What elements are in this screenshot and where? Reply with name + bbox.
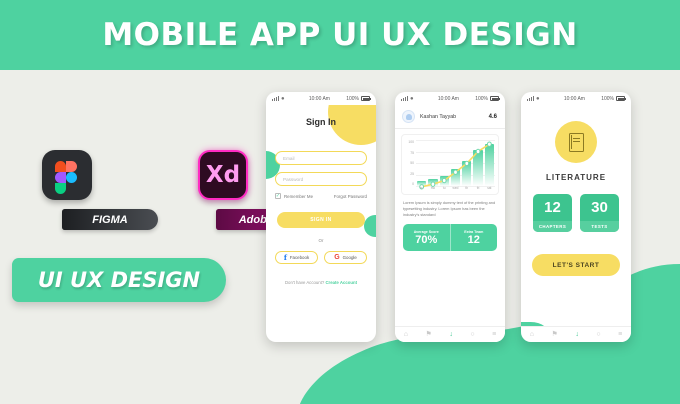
status-bar: ● 10:00 Am 100%	[395, 92, 505, 105]
page-header-banner: MOBILE APP UI UX DESIGN	[0, 0, 680, 70]
score-summary-card: Average Score70%Extra Team12	[403, 224, 497, 251]
signin-screen: Sign In Email Password ✓ Remember Me For…	[266, 105, 376, 342]
graduation-cap-icon[interactable]: ⌂	[530, 331, 534, 338]
no-account-text: Don't have Account?	[285, 280, 324, 285]
signal-icon	[527, 96, 534, 101]
stat-value: 30	[580, 194, 619, 221]
status-bar-right: 100%	[601, 96, 625, 102]
signin-heading: Sign In	[266, 117, 376, 127]
chart-x-tick: tu	[440, 186, 449, 192]
score-value: 70%	[415, 235, 437, 246]
email-field[interactable]: Email	[275, 151, 367, 165]
subject-stats-row: 12CHAPTERS30TESTS	[533, 194, 619, 232]
phone-mockup-literature: ● 10:00 Am 100% LITERATURE 12CHAPTERS30T…	[521, 92, 631, 342]
lets-start-button[interactable]: LET'S START	[532, 254, 620, 276]
profile-header[interactable]: Kashan Tayyab 4.6	[395, 105, 505, 129]
score-value: 12	[468, 235, 480, 246]
subject-icon-circle	[555, 121, 597, 163]
chart-data-point	[442, 178, 446, 182]
decoration-circle-green-right	[364, 215, 376, 237]
chart-x-tick: sat	[485, 186, 494, 192]
chart-x-tick: wed	[451, 186, 460, 192]
facebook-login-button[interactable]: f Facebook	[275, 251, 318, 264]
battery-percent: 100%	[346, 96, 359, 102]
password-field[interactable]: Password	[275, 172, 367, 186]
figma-shape-red	[55, 161, 66, 172]
bell-icon[interactable]: ⚑	[552, 331, 558, 338]
score-cell: Extra Team12	[450, 224, 498, 251]
avatar-person-icon	[406, 114, 412, 120]
status-bar-left: ●	[401, 96, 414, 102]
menu-icon[interactable]: ≡	[618, 331, 622, 338]
email-placeholder: Email	[283, 156, 295, 161]
chart-x-tick: th	[462, 186, 471, 192]
battery-icon	[616, 96, 625, 101]
forgot-password-link[interactable]: Forgot Password	[334, 194, 367, 199]
menu-icon[interactable]: ≡	[492, 331, 496, 338]
phone-mockup-dashboard: ● 10:00 Am 100% Kashan Tayyab 4.6 100755…	[395, 92, 505, 342]
google-icon: G	[334, 254, 339, 261]
status-bar-time: 10:00 Am	[540, 96, 602, 102]
dashboard-screen: Kashan Tayyab 4.6 1007550250 sumotuwedth…	[395, 105, 505, 342]
bottom-navigation[interactable]: ⌂⚑↓○≡	[521, 326, 631, 342]
rating-value: 4.6	[489, 114, 497, 120]
chart-y-tick: 0	[412, 182, 414, 186]
gear-icon[interactable]: ○	[596, 331, 600, 338]
battery-percent: 100%	[475, 96, 488, 102]
status-bar: ● 10:00 Am 100%	[266, 92, 376, 105]
score-cell: Average Score70%	[403, 224, 450, 251]
gear-icon[interactable]: ○	[470, 331, 474, 338]
chart-data-point	[465, 161, 469, 165]
facebook-icon: f	[284, 254, 287, 261]
tools-showcase: FIGMA Xd Adobe XD UI UX DESIGN	[0, 150, 250, 302]
battery-percent: 100%	[601, 96, 614, 102]
create-account-link[interactable]: Create Account	[325, 280, 357, 285]
status-bar-time: 10:00 Am	[414, 96, 476, 102]
avatar	[402, 110, 415, 123]
chart-data-point	[454, 170, 458, 174]
adobe-xd-icon: Xd	[198, 150, 248, 200]
stat-label: TESTS	[580, 221, 619, 232]
chart-trend-line	[416, 140, 495, 192]
person-icon[interactable]: ↓	[449, 331, 453, 338]
adobe-xd-glyph: Xd	[206, 162, 240, 188]
create-account-row: Don't have Account? Create Account	[266, 280, 376, 285]
chart-data-point	[476, 149, 480, 153]
facebook-label: Facebook	[290, 255, 309, 260]
figma-label: FIGMA	[62, 209, 158, 230]
social-login-row: f Facebook G Google	[275, 251, 367, 264]
phone-mockup-signin: ● 10:00 Am 100% Sign In Email Password ✓…	[266, 92, 376, 342]
graduation-cap-icon[interactable]: ⌂	[404, 331, 408, 338]
google-label: Google	[343, 255, 357, 260]
battery-icon	[361, 96, 370, 101]
chart-y-tick: 100	[408, 140, 414, 144]
chart-x-axis: sumotuwedthfrisat	[416, 186, 495, 192]
figma-tool: FIGMA	[42, 150, 158, 230]
chart-y-tick: 75	[410, 151, 414, 155]
uiux-design-banner: UI UX DESIGN	[12, 258, 226, 302]
subject-title: LITERATURE	[521, 173, 631, 182]
profile-name: Kashan Tayyab	[420, 114, 484, 120]
stat-card[interactable]: 30TESTS	[580, 194, 619, 232]
chart-x-tick: mo	[428, 186, 437, 192]
figma-shape-purple	[55, 172, 66, 183]
book-spine	[571, 135, 572, 149]
chart-y-tick: 50	[410, 161, 414, 165]
status-bar: ● 10:00 Am 100%	[521, 92, 631, 105]
bottom-navigation[interactable]: ⌂⚑↓○≡	[395, 326, 505, 342]
description-text: Lorem Ipsum is simply dummy text of the …	[403, 200, 497, 218]
uiux-design-text: UI UX DESIGN	[38, 268, 200, 292]
person-icon[interactable]: ↓	[575, 331, 579, 338]
signal-icon	[401, 96, 408, 101]
book-icon	[569, 133, 584, 152]
figma-shape-blue	[66, 172, 77, 183]
google-login-button[interactable]: G Google	[324, 251, 367, 264]
status-bar-left: ●	[527, 96, 540, 102]
figma-icon	[42, 150, 92, 200]
chart-x-tick: su	[417, 186, 426, 192]
status-bar-right: 100%	[475, 96, 499, 102]
chart: 1007550250 sumotuwedthfrisat	[405, 140, 495, 192]
status-bar-left: ●	[272, 96, 285, 102]
signin-button[interactable]: SIGN IN	[277, 212, 365, 228]
remember-row: ✓ Remember Me Forgot Password	[275, 193, 367, 199]
literature-screen: LITERATURE 12CHAPTERS30TESTS LET'S START	[521, 105, 631, 342]
stat-label: CHAPTERS	[533, 221, 572, 232]
chart-plot-area: sumotuwedthfrisat	[416, 140, 495, 192]
checkbox-icon[interactable]: ✓	[275, 193, 281, 199]
chart-y-axis: 1007550250	[405, 140, 416, 192]
figma-shape-orange	[66, 161, 77, 172]
figma-shape-green	[55, 183, 66, 194]
page-title: MOBILE APP UI UX DESIGN	[102, 17, 577, 53]
activity-chart-card: 1007550250 sumotuwedthfrisat	[401, 134, 499, 195]
status-bar-right: 100%	[346, 96, 370, 102]
stat-value: 12	[533, 194, 572, 221]
stat-card[interactable]: 12CHAPTERS	[533, 194, 572, 232]
password-placeholder: Password	[283, 177, 303, 182]
battery-icon	[490, 96, 499, 101]
or-divider-label: Or	[266, 238, 376, 243]
chart-x-tick: fri	[473, 186, 482, 192]
bell-icon[interactable]: ⚑	[426, 331, 432, 338]
status-bar-time: 10:00 Am	[285, 96, 347, 102]
signal-icon	[272, 96, 279, 101]
chart-data-point	[487, 142, 491, 146]
chart-y-tick: 25	[410, 172, 414, 176]
remember-me-label: Remember Me	[284, 194, 313, 199]
remember-me-checkbox[interactable]: ✓ Remember Me	[275, 193, 313, 199]
